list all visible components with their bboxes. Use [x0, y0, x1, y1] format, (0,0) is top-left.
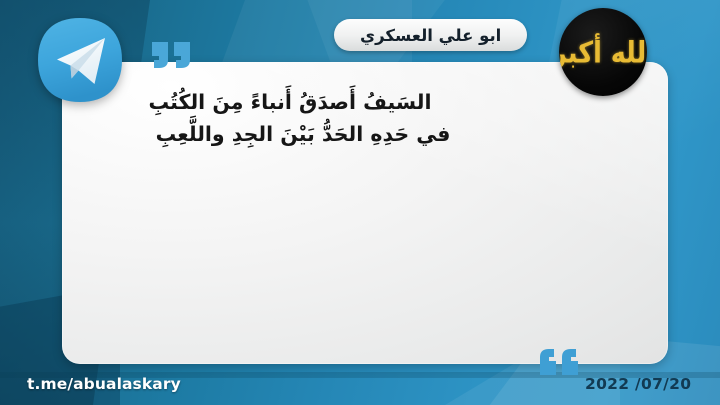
close-quote-icon: [538, 345, 582, 379]
quote-line-2: في حَدِهِ الحَدُّ بَيْنَ الجِدِ واللَّعِ…: [0, 118, 606, 150]
telegram-icon[interactable]: [36, 16, 124, 104]
author-name-badge: ابو علي العسكري: [334, 19, 527, 51]
telegram-handle-link[interactable]: t.me/abualaskary: [27, 375, 181, 393]
author-name-text: ابو علي العسكري: [360, 26, 501, 45]
open-quote-icon: [150, 38, 194, 72]
quote-card-image: السَيفُ أَصدَقُ أَنباءً مِنَ الكُتُبِ في…: [0, 0, 720, 405]
calligraphy-logo: الله أكبر: [559, 8, 647, 96]
post-date: 2022 /07/20: [585, 375, 691, 393]
calligraphy-logo-text: الله أكبر: [559, 37, 647, 67]
